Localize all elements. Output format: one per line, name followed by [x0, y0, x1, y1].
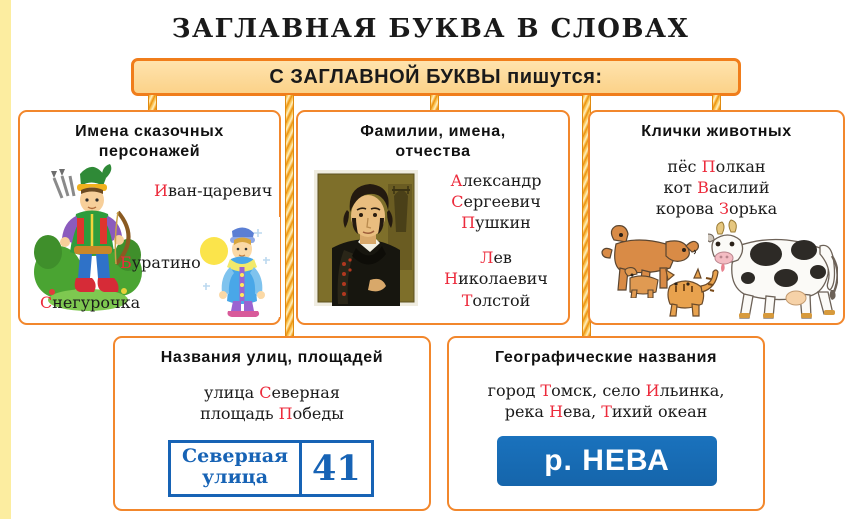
- card-fairy-tale-names: Имена сказочных персонажей: [18, 110, 281, 325]
- word-rest: еверная: [271, 383, 339, 402]
- connector-rope-2: [285, 95, 294, 340]
- word-rest: ушкин: [475, 213, 531, 232]
- names-examples: Александр Сергеевич Пушкин Лев Николаеви…: [426, 170, 566, 311]
- example-snegurochka: Снегурочка: [40, 292, 140, 313]
- card-geographic-names: Географические названия город Томск, сел…: [447, 336, 765, 511]
- capital-letter: А: [450, 171, 462, 190]
- card-street-names: Названия улиц, площадей улица Северная п…: [113, 336, 431, 511]
- example-pyos-polkan: пёс Полкан: [590, 156, 843, 177]
- word-rest: негурочка: [52, 293, 140, 312]
- ivan-tsarevich-illustration: [32, 160, 144, 312]
- connector-rope-3: [430, 95, 439, 111]
- word-rest: иколаевич: [458, 269, 548, 288]
- capital-letter: П: [461, 213, 475, 232]
- card-fairy-title: Имена сказочных персонажей: [20, 122, 279, 162]
- example-geo-line-2: река Нева, Тихий океан: [449, 401, 763, 422]
- streets-examples: улица Северная площадь Победы: [115, 382, 429, 424]
- card-names-title: Фамилии, имена, отчества: [298, 122, 568, 162]
- word-prefix: город: [488, 381, 541, 400]
- card-pets-title: Клички животных: [590, 122, 843, 142]
- cow-illustration: [708, 216, 838, 320]
- word-rest: ергеевич: [463, 192, 540, 211]
- word-rest: асилий: [709, 178, 770, 197]
- word-rest: ева,: [563, 402, 601, 421]
- connector-rope-1: [148, 95, 157, 111]
- capital-letter: Л: [480, 248, 493, 267]
- capital-letter: С: [40, 293, 52, 312]
- word-rest: обеды: [293, 404, 344, 423]
- capital-letter: С: [451, 192, 463, 211]
- street-plate: Северная улица 41: [168, 440, 374, 497]
- rule-banner-label: С ЗАГЛАВНОЙ БУКВЫ пишутся:: [269, 66, 602, 89]
- pets-examples: пёс Полкан кот Василий корова Зорька: [590, 156, 843, 219]
- left-edge-strip: [0, 0, 11, 519]
- example-lev: Лев: [426, 247, 566, 268]
- rule-banner: С ЗАГЛАВНОЙ БУКВЫ пишутся:: [131, 58, 741, 96]
- example-ulitsa-severnaya: улица Северная: [115, 382, 429, 403]
- card-animal-nicknames: Клички животных пёс Полкан кот Василий к…: [588, 110, 845, 325]
- river-sign-label: р. НЕВА: [544, 444, 670, 478]
- capital-letter: П: [279, 404, 293, 423]
- word-prefix: село: [602, 381, 645, 400]
- example-aleksandr: Александр: [426, 170, 566, 191]
- word-rest: олстой: [472, 291, 530, 310]
- word-rest: олкан: [716, 157, 766, 176]
- capital-letter: Н: [444, 269, 458, 288]
- card-full-names: Фамилии, имена, отчества: [296, 110, 570, 325]
- example-pushkin: Пушкин: [426, 212, 566, 233]
- capital-letter: И: [154, 181, 168, 200]
- word-rest: ван-царевич: [168, 181, 272, 200]
- capital-letter: Т: [601, 402, 612, 421]
- example-ploshchad-pobedy: площадь Победы: [115, 403, 429, 424]
- example-kot-vasiliy: кот Василий: [590, 177, 843, 198]
- word-rest: льинка,: [660, 381, 725, 400]
- word-rest: лександр: [463, 171, 542, 190]
- word-prefix: площадь: [200, 404, 279, 423]
- street-plate-number: 41: [299, 443, 371, 494]
- example-geo-line-1: город Томск, село Ильинка,: [449, 380, 763, 401]
- card-geo-title: Географические названия: [449, 348, 763, 368]
- capital-letter: П: [702, 157, 716, 176]
- names-spacer: [426, 233, 566, 247]
- connector-rope-5: [712, 95, 721, 111]
- word-rest: ев: [493, 248, 511, 267]
- capital-letter: И: [646, 381, 660, 400]
- river-sign: р. НЕВА: [497, 436, 717, 486]
- capital-letter: Т: [540, 381, 551, 400]
- capital-letter: Т: [462, 291, 473, 310]
- capital-letter: В: [697, 178, 709, 197]
- example-nikolaevich: Николаевич: [426, 268, 566, 289]
- word-rest: омск,: [551, 381, 602, 400]
- capital-letter: Н: [549, 402, 563, 421]
- example-ivan-tsarevich: Иван-царевич: [154, 180, 272, 201]
- capital-letter: С: [259, 383, 271, 402]
- word-prefix: пёс: [667, 157, 701, 176]
- card-streets-title: Названия улиц, площадей: [115, 348, 429, 368]
- example-sergeevich: Сергеевич: [426, 191, 566, 212]
- word-prefix: улица: [204, 383, 259, 402]
- page-title: ЗАГЛАВНАЯ БУКВА В СЛОВАХ: [0, 14, 861, 44]
- word-prefix: кот: [664, 178, 698, 197]
- snegurochka-illustration: [196, 217, 280, 317]
- example-buratino: Буратино: [120, 252, 201, 273]
- capital-letter: Б: [120, 253, 132, 272]
- word-prefix: река: [505, 402, 549, 421]
- street-plate-name: Северная улица: [171, 443, 299, 494]
- pushkin-portrait: [314, 170, 418, 306]
- word-rest: уратино: [132, 253, 201, 272]
- geo-examples: город Томск, село Ильинка, река Нева, Ти…: [449, 380, 763, 422]
- example-tolstoy: Толстой: [426, 290, 566, 311]
- word-rest: ихий океан: [612, 402, 707, 421]
